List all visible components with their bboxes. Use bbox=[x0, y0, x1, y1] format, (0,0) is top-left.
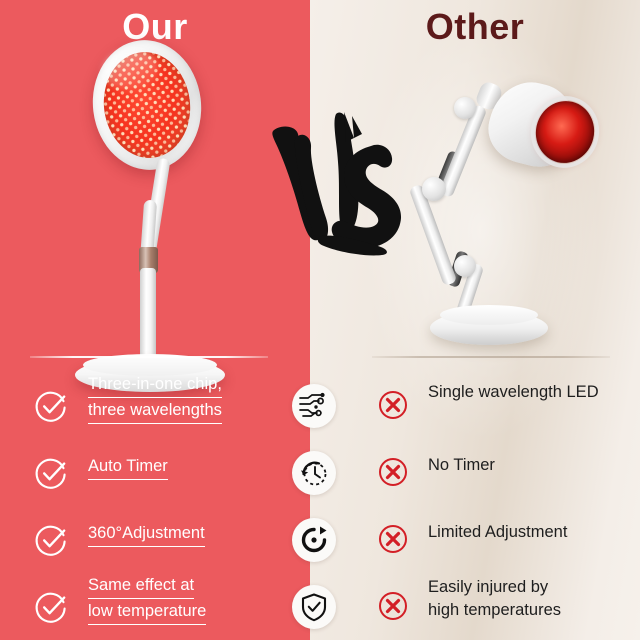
desk-lamp-joint-mid bbox=[422, 177, 446, 201]
product-image-other bbox=[400, 55, 600, 355]
con-feature-text: Easily injured by high temperatures bbox=[428, 576, 633, 622]
con-feature-line: Easily injured by bbox=[428, 578, 548, 596]
heading-other: Other bbox=[310, 6, 640, 48]
desk-lamp-joint-upper bbox=[454, 97, 476, 119]
check-circle-icon bbox=[33, 589, 69, 625]
pro-feature-text: Same effect at low temperature bbox=[88, 573, 278, 625]
rotate-360-icon bbox=[292, 518, 336, 562]
desk-lamp-joint-lower bbox=[454, 255, 476, 277]
desk-lamp-base-top bbox=[440, 305, 538, 325]
con-feature-text: Limited Adjustment bbox=[428, 521, 633, 544]
con-feature-line: Single wavelength LED bbox=[428, 383, 599, 401]
cross-circle-icon bbox=[377, 389, 409, 421]
check-circle-icon bbox=[33, 522, 69, 558]
pro-feature-line: Same effect at bbox=[88, 573, 194, 599]
con-feature-line: Limited Adjustment bbox=[428, 523, 567, 541]
pro-feature-line: low temperature bbox=[88, 599, 206, 625]
cross-circle-icon bbox=[377, 456, 409, 488]
comparison-row: Same effect at low temperature Easily in… bbox=[0, 573, 640, 640]
shield-check-icon bbox=[292, 585, 336, 629]
vs-brush-mark bbox=[258, 108, 408, 258]
comparison-row: 360°Adjustment Limited Adjustment bbox=[0, 506, 640, 573]
con-feature-text: No Timer bbox=[428, 454, 633, 477]
comparison-row: Auto Timer No Timer bbox=[0, 439, 640, 506]
pro-feature-text: 360°Adjustment bbox=[88, 521, 278, 547]
product-image-our bbox=[55, 40, 235, 350]
pro-feature-line: Auto Timer bbox=[88, 454, 168, 480]
comparison-infographic: Our Other bbox=[0, 0, 640, 640]
comparison-row: Three-in-one chip, three wavelengths bbox=[0, 372, 640, 439]
cross-circle-icon bbox=[377, 523, 409, 555]
pro-feature-line: Three-in-one chip, bbox=[88, 372, 222, 398]
cross-circle-icon bbox=[377, 590, 409, 622]
divider-right bbox=[372, 356, 610, 358]
con-feature-text: Single wavelength LED bbox=[428, 381, 633, 404]
led-panel-head-icon bbox=[85, 34, 208, 176]
pro-feature-text: Auto Timer bbox=[88, 454, 278, 480]
divider-left bbox=[30, 356, 268, 358]
pro-feature-line: three wavelengths bbox=[88, 398, 222, 424]
con-feature-line: No Timer bbox=[428, 456, 495, 474]
pro-feature-line: 360°Adjustment bbox=[88, 521, 205, 547]
check-circle-icon bbox=[33, 388, 69, 424]
check-circle-icon bbox=[33, 455, 69, 491]
chip-circuit-icon bbox=[292, 384, 336, 428]
timer-clock-icon bbox=[292, 451, 336, 495]
pro-feature-text: Three-in-one chip, three wavelengths bbox=[88, 372, 278, 424]
con-feature-line: high temperatures bbox=[428, 601, 561, 619]
comparison-rows: Three-in-one chip, three wavelengths bbox=[0, 372, 640, 640]
